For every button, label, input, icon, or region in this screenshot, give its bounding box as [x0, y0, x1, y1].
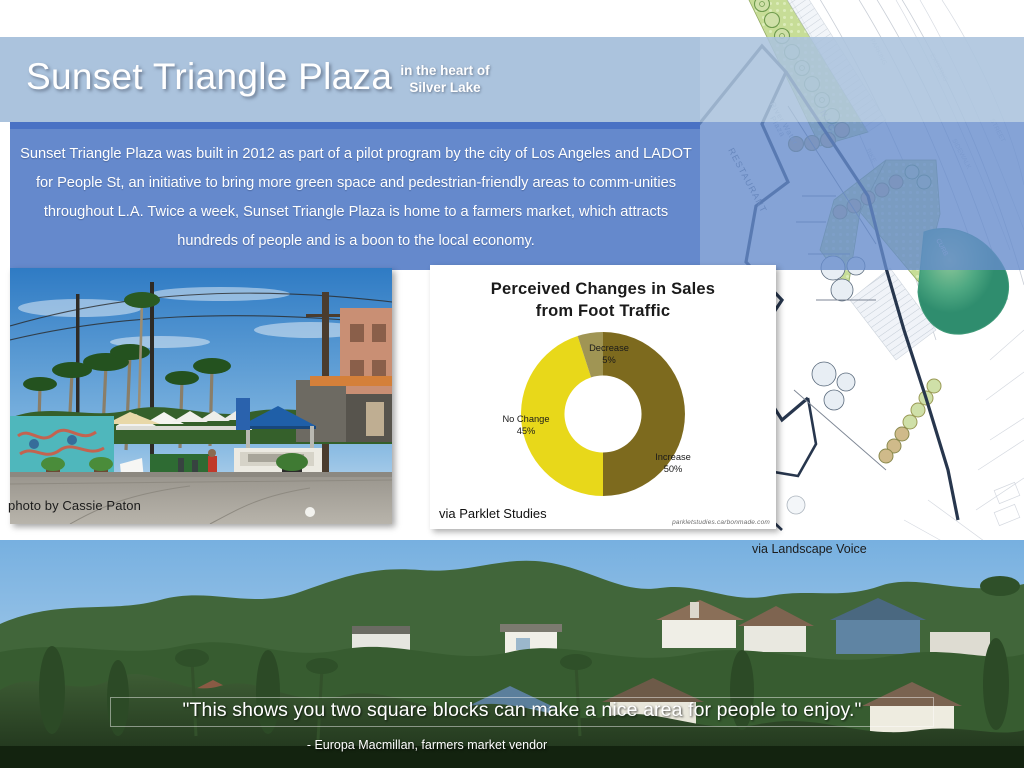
- subtitle-line-1: in the heart of: [380, 62, 510, 79]
- chart-source-credit: via Parklet Studies: [439, 506, 547, 521]
- quote-text: "This shows you two square blocks can ma…: [110, 699, 934, 722]
- slice-label-increase: Increase 50%: [638, 451, 708, 475]
- slice-label-decrease: Decrease 5%: [574, 342, 644, 366]
- slice-label-no-change: No Change 45%: [486, 413, 566, 437]
- chart-watermark: parkletstudies.carbonmade.com: [672, 519, 770, 526]
- slice-value-decrease: 5%: [574, 354, 644, 366]
- slice-name-decrease: Decrease: [574, 342, 644, 354]
- slice-value-no-change: 45%: [486, 425, 566, 437]
- page-subtitle: in the heart of Silver Lake: [380, 62, 510, 96]
- slice-value-increase: 50%: [638, 463, 708, 475]
- site-plan-credit: via Landscape Voice: [752, 542, 867, 556]
- donut-chart: Decrease 5% No Change 45% Increase 50%: [430, 325, 776, 503]
- market-photo-credit: photo by Cassie Paton: [8, 498, 141, 513]
- page-title: Sunset Triangle Plaza: [26, 56, 392, 98]
- chart-title: Perceived Changes in Sales from Foot Tra…: [430, 278, 776, 322]
- description-text: Sunset Triangle Plaza was built in 2012 …: [18, 140, 694, 256]
- chart-panel: Perceived Changes in Sales from Foot Tra…: [430, 265, 776, 529]
- poster-slide: RESTAURANT River Water Plaza N.I.C. PARK…: [0, 0, 1024, 768]
- farmers-market-photo: [10, 268, 392, 524]
- slice-name-no-change: No Change: [486, 413, 566, 425]
- slice-name-increase: Increase: [638, 451, 708, 463]
- subtitle-line-2: Silver Lake: [380, 79, 510, 96]
- quote-attribution: - Europa Macmillan, farmers market vendo…: [0, 738, 1024, 752]
- hillside-photo: [0, 540, 1024, 768]
- chart-title-line-1: Perceived Changes in Sales: [430, 278, 776, 300]
- chart-title-line-2: from Foot Traffic: [430, 300, 776, 322]
